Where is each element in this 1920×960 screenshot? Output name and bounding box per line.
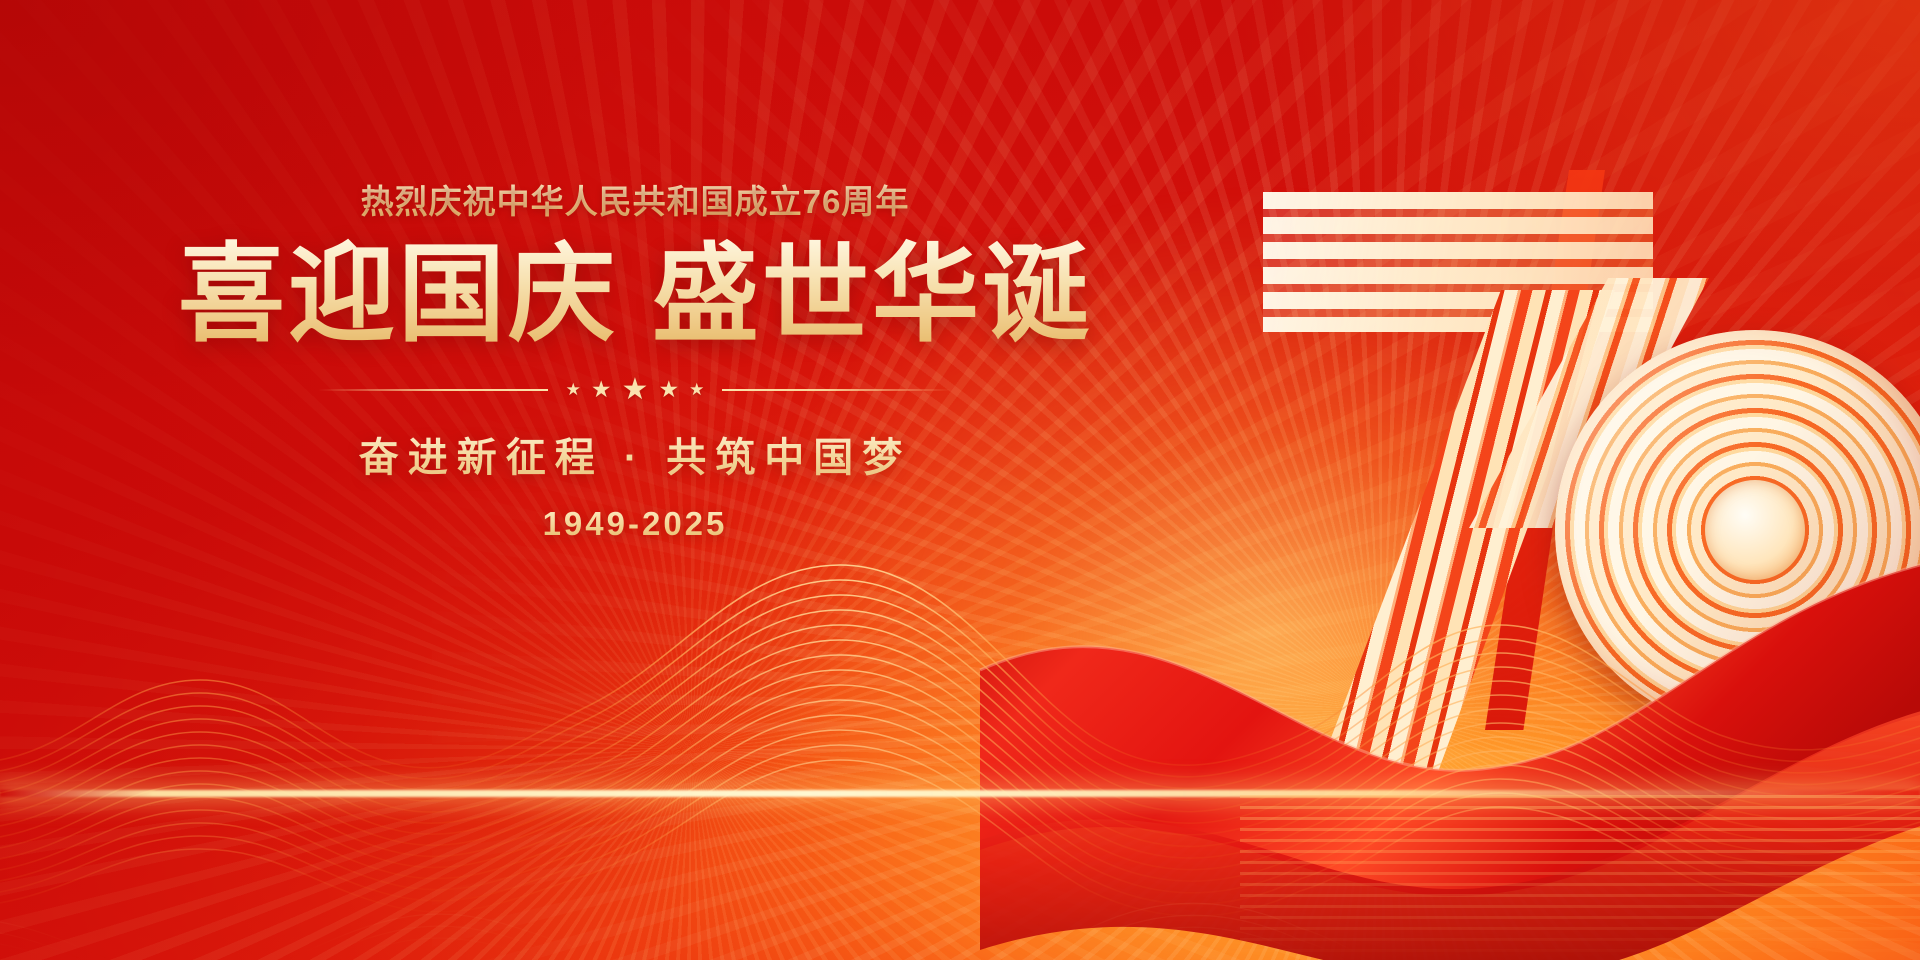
headline-right-phrase: 盛世华诞	[652, 234, 1092, 354]
star-icon: ★	[658, 378, 679, 401]
star-icon: ★	[591, 378, 612, 401]
star-icon: ★	[689, 381, 704, 398]
tagline-text: 奋进新征程 · 共筑中国梦	[105, 425, 1165, 483]
star-icon: ★	[622, 375, 649, 405]
divider-rule-left	[318, 389, 548, 391]
anniversary-eyebrow-text: 热烈庆祝中华人民共和国成立76周年	[105, 175, 1165, 223]
divider-stars: ★ ★ ★ ★ ★	[566, 375, 705, 405]
star-divider: ★ ★ ★ ★ ★	[105, 375, 1165, 405]
star-icon: ★	[566, 381, 581, 398]
national-day-banner: 热烈庆祝中华人民共和国成立76周年 喜迎国庆盛世华诞 ★ ★ ★ ★ ★ 奋进新…	[0, 0, 1920, 960]
headline-left-phrase: 喜迎国庆	[178, 234, 618, 354]
main-headline: 喜迎国庆盛世华诞	[105, 237, 1165, 353]
year-range-text: 1949-2025	[105, 505, 1165, 543]
base-hatch-stripes	[1240, 795, 1920, 960]
divider-rule-right	[722, 389, 952, 391]
headline-copy-block: 热烈庆祝中华人民共和国成立76周年 喜迎国庆盛世华诞 ★ ★ ★ ★ ★ 奋进新…	[105, 175, 1165, 543]
